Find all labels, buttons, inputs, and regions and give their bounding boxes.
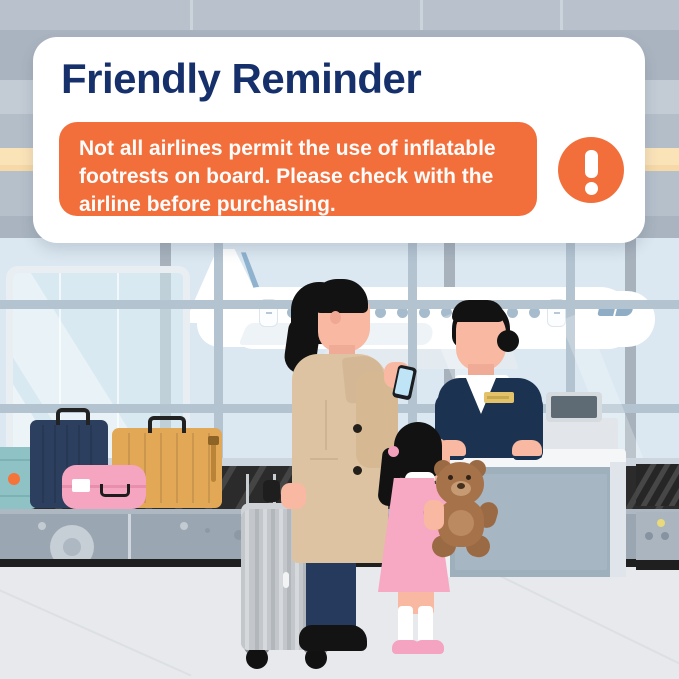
child-sock bbox=[418, 606, 433, 644]
child-hair-tie bbox=[388, 446, 399, 457]
child-shoe bbox=[414, 640, 444, 654]
control-button[interactable] bbox=[661, 532, 669, 540]
ceiling-seam bbox=[190, 0, 193, 30]
suitcase-handle-grip bbox=[263, 480, 280, 502]
conveyor-bolt bbox=[38, 522, 46, 530]
teddy-eye bbox=[466, 475, 471, 480]
page-title: Friendly Reminder bbox=[61, 55, 421, 103]
suitcase-lock bbox=[283, 572, 289, 588]
traveller-coat-seam bbox=[325, 400, 327, 450]
side-conveyor-plinth bbox=[636, 560, 679, 570]
suitcase-handle-bar bbox=[246, 474, 249, 506]
suitcase-pink bbox=[62, 465, 146, 509]
floor-seam bbox=[500, 575, 679, 679]
staff-hair-front bbox=[452, 300, 504, 322]
conveyor-bolt bbox=[180, 522, 188, 530]
suitcase-wheel bbox=[246, 647, 268, 669]
child-sock bbox=[398, 606, 413, 644]
airport-reminder-banner: Friendly Reminder Not all airlines permi… bbox=[0, 0, 679, 679]
reminder-message-text: Not all airlines permit the use of infla… bbox=[79, 135, 519, 219]
traveller-coat-pocket bbox=[310, 458, 338, 460]
control-button[interactable] bbox=[645, 532, 653, 540]
floor-seam bbox=[0, 585, 191, 676]
conveyor-bolt bbox=[205, 528, 210, 533]
traveller-hand-left bbox=[281, 483, 306, 509]
indicator-light-icon bbox=[657, 519, 665, 527]
reminder-message-pill: Not all airlines permit the use of infla… bbox=[59, 122, 537, 216]
ceiling-seam bbox=[560, 0, 563, 30]
teddy-eye bbox=[448, 475, 453, 480]
exclamation-dot bbox=[585, 182, 598, 195]
traveller-coat-button bbox=[353, 466, 362, 475]
traveller-shoe bbox=[299, 625, 367, 651]
counter-right-edge bbox=[610, 462, 626, 577]
side-conveyor-belt bbox=[636, 464, 679, 506]
exclamation-circle-icon bbox=[558, 137, 624, 203]
reminder-card: Friendly Reminder Not all airlines permi… bbox=[33, 37, 645, 243]
staff-hair-bun bbox=[497, 330, 519, 352]
teddy-tummy bbox=[448, 510, 474, 536]
ceiling-seam bbox=[420, 0, 423, 30]
child-arm bbox=[424, 500, 444, 530]
baggage-scanner-screen bbox=[551, 396, 597, 418]
staff-name-badge bbox=[484, 392, 514, 403]
traveller-coat-button bbox=[353, 424, 362, 433]
ceiling-panel bbox=[0, 0, 679, 30]
traveller-ear bbox=[330, 311, 341, 324]
exclamation-bar bbox=[585, 150, 598, 178]
staff-hand-right bbox=[512, 440, 542, 456]
suitcase-handle bbox=[56, 408, 90, 425]
suitcase-handle bbox=[148, 416, 186, 433]
teddy-nose bbox=[457, 483, 465, 489]
